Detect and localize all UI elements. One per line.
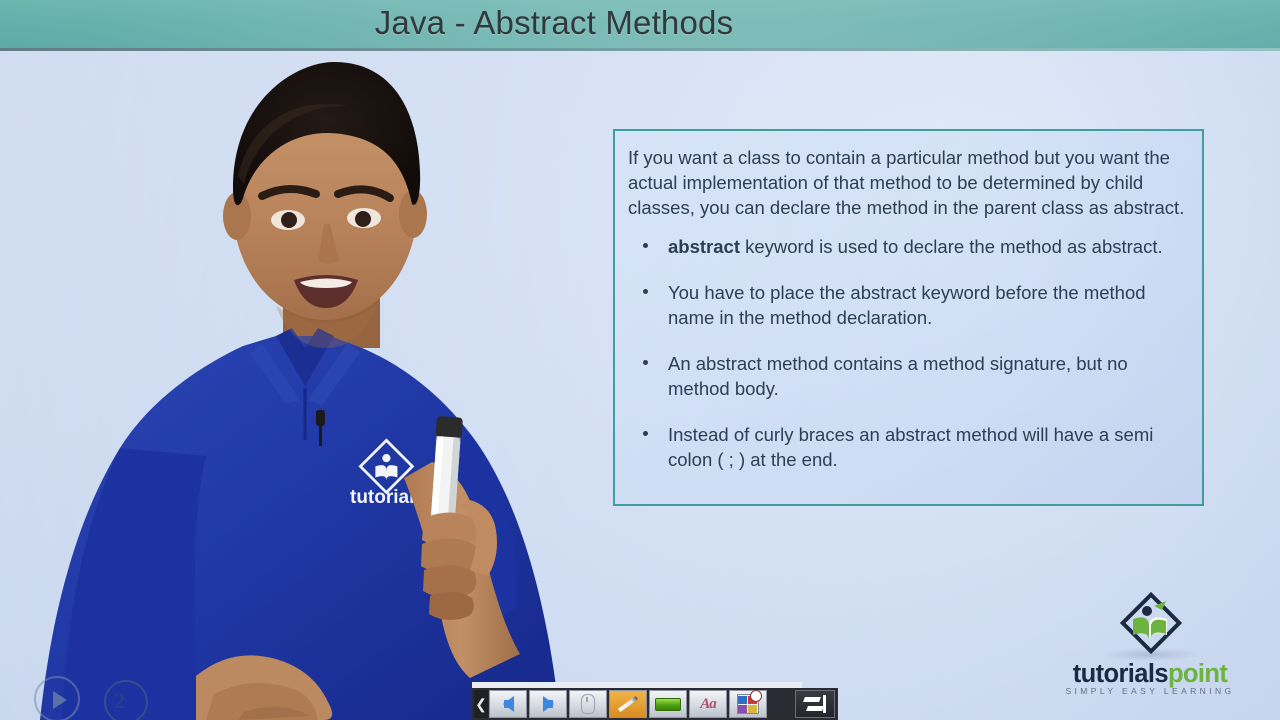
step-button[interactable]: 2 — [104, 680, 148, 720]
highlighter-tool-button[interactable] — [649, 690, 687, 718]
intro-paragraph: If you want a class to contain a particu… — [628, 145, 1190, 220]
header-bottom-edge — [0, 48, 1280, 51]
bullet-text: An abstract method contains a method sig… — [668, 353, 1128, 399]
bullet-keyword: abstract — [668, 236, 740, 257]
bullet-dot-icon — [643, 431, 648, 436]
eraser-icon: Aa — [700, 696, 716, 713]
bullet-list: abstract keyword is used to declare the … — [628, 234, 1190, 472]
list-item: You have to place the abstract keyword b… — [628, 280, 1190, 330]
eraser-tool-button[interactable]: Aa — [689, 690, 727, 718]
tutorialspoint-diamond-icon — [1120, 592, 1182, 654]
list-item: Instead of curly braces an abstract meth… — [628, 422, 1190, 472]
next-slide-button[interactable] — [529, 690, 567, 718]
bullet-dot-icon — [643, 289, 648, 294]
page-title: Java - Abstract Methods — [0, 4, 1280, 42]
arrow-right-icon — [543, 696, 554, 712]
video-frame: tutorials Java - Abstract Methods — [0, 0, 1280, 720]
bullet-text: Instead of curly braces an abstract meth… — [668, 424, 1153, 470]
pen-icon — [618, 696, 638, 712]
toolbar-collapse-button[interactable]: ❮ — [474, 690, 488, 718]
content-box: If you want a class to contain a particu… — [613, 129, 1204, 506]
logo-tagline: SIMPLY EASY LEARNING — [1040, 686, 1260, 696]
logo-word-secondary: point — [1168, 660, 1227, 688]
slide-header: Java - Abstract Methods — [0, 0, 1280, 48]
brand-logo: tutorialspoint SIMPLY EASY LEARNING — [1040, 592, 1260, 704]
bullet-text: keyword is used to declare the method as… — [740, 236, 1163, 257]
arrow-left-icon — [503, 696, 514, 712]
toolbar-spacer — [768, 690, 794, 718]
previous-slide-button[interactable] — [489, 690, 527, 718]
ink-color-button[interactable] — [729, 690, 767, 718]
logo-word-primary: tutorials — [1073, 660, 1168, 688]
screen-toggle-button[interactable] — [795, 690, 835, 718]
play-button[interactable] — [34, 676, 80, 720]
bullet-dot-icon — [643, 360, 648, 365]
list-item: abstract keyword is used to declare the … — [628, 234, 1190, 259]
bullet-text: You have to place the abstract keyword b… — [668, 282, 1146, 328]
logo-wordmark: tutorialspoint — [1040, 660, 1260, 689]
mouse-pointer-icon — [581, 694, 595, 714]
pen-tool-button[interactable] — [609, 690, 647, 718]
step-icon: 2 — [114, 688, 125, 714]
swap-screen-icon — [804, 695, 826, 713]
bullet-dot-icon — [643, 243, 648, 248]
play-icon — [53, 691, 67, 709]
color-palette-icon — [737, 694, 759, 714]
highlighter-icon — [655, 698, 681, 711]
list-item: An abstract method contains a method sig… — [628, 351, 1190, 401]
pointer-tool-button[interactable] — [569, 690, 607, 718]
presentation-toolbar[interactable]: ❮ Aa — [472, 688, 838, 720]
presenter-video: tutorials — [0, 48, 620, 720]
